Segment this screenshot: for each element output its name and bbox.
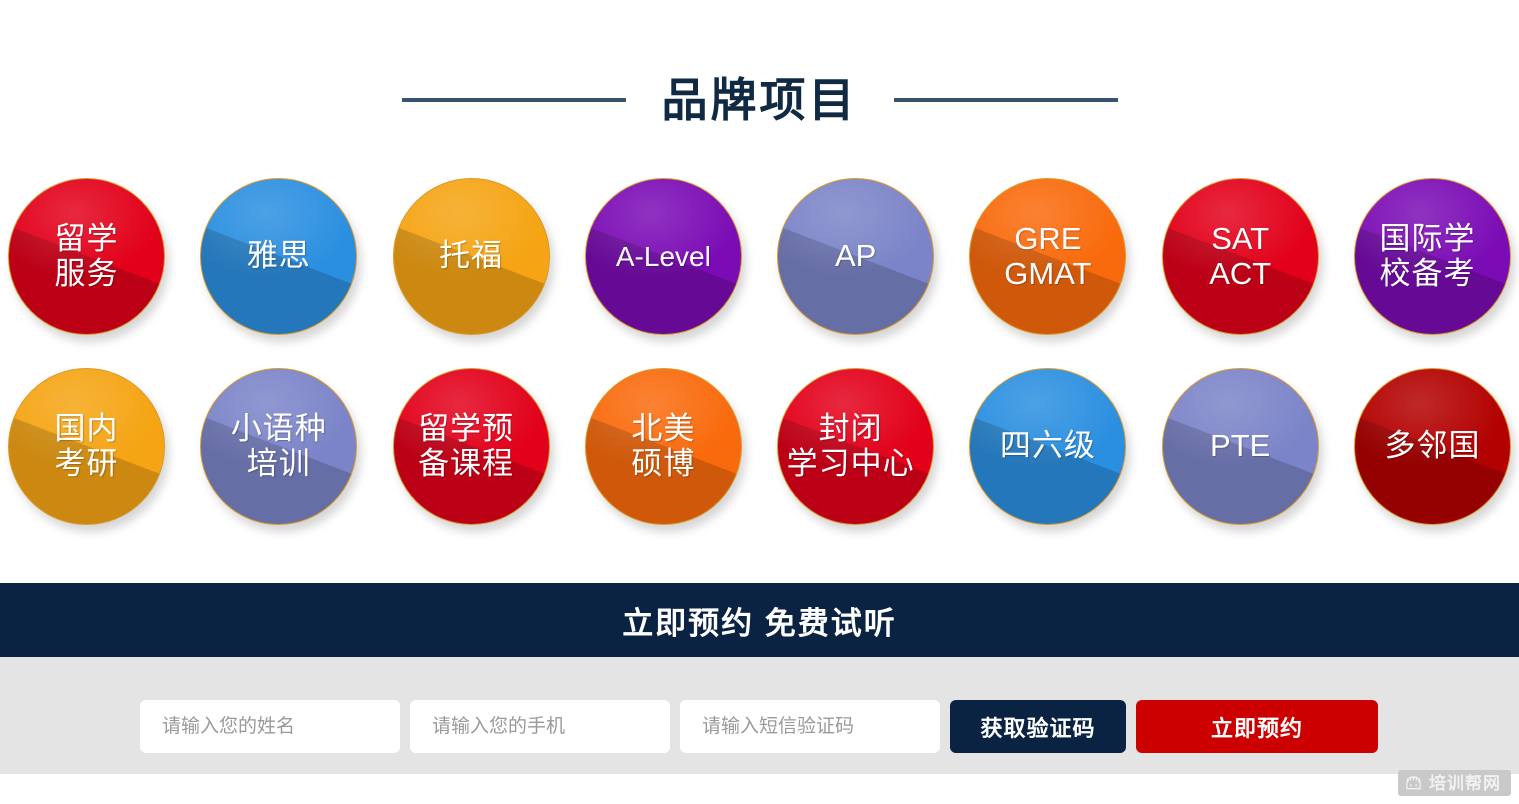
program-grid: 留学 服务雅思托福A-LevelAPGRE GMATSAT ACT国际学 校备考… [0,178,1519,558]
program-bubble[interactable]: 封闭 学习中心 [777,368,934,525]
program-bubble[interactable]: 北美 硕博 [585,368,742,525]
cta-banner-text: 立即预约 免费试听 [622,598,897,643]
sun-face-icon [1404,774,1423,793]
program-bubble-label: 北美 硕博 [629,412,697,481]
program-bubble-label: A-Level [614,241,713,272]
program-bubble[interactable]: 小语种 培训 [200,368,357,525]
program-bubble[interactable]: PTE [1162,368,1319,525]
program-bubble[interactable]: GRE GMAT [969,178,1126,335]
watermark-text: 培训帮网 [1429,775,1501,792]
phone-input[interactable] [410,700,670,753]
program-bubble[interactable]: 托福 [393,178,550,335]
program-bubble[interactable]: SAT ACT [1162,178,1319,335]
program-bubble-label: 雅思 [245,239,313,274]
title-rule-left [402,98,626,102]
submit-booking-button[interactable]: 立即预约 [1136,700,1378,753]
program-bubble-label: 四六级 [998,429,1098,464]
program-bubble[interactable]: 雅思 [200,178,357,335]
booking-form-strip: 获取验证码 立即预约 [0,657,1519,774]
title-rule-right [894,98,1118,102]
site-watermark: 培训帮网 [1398,770,1511,796]
sms-code-input[interactable] [680,700,940,753]
program-bubble[interactable]: 四六级 [969,368,1126,525]
name-input[interactable] [140,700,400,753]
program-bubble[interactable]: 留学预 备课程 [393,368,550,525]
program-row-2: 国内 考研小语种 培训留学预 备课程北美 硕博封闭 学习中心四六级PTE多邻国 [0,368,1519,538]
cta-banner: 立即预约 免费试听 [0,583,1519,657]
page-title-block: 品牌项目 [0,62,1519,138]
program-row-1: 留学 服务雅思托福A-LevelAPGRE GMATSAT ACT国际学 校备考 [0,178,1519,348]
program-bubble-label: 多邻国 [1382,429,1482,464]
program-bubble-label: 留学 服务 [53,222,121,291]
program-bubble[interactable]: 留学 服务 [8,178,165,335]
program-bubble-label: GRE GMAT [1002,222,1093,291]
program-bubble[interactable]: 多邻国 [1354,368,1511,525]
program-bubble-label: 小语种 培训 [229,412,329,481]
program-bubble-label: PTE [1208,429,1272,464]
program-bubble[interactable]: 国际学 校备考 [1354,178,1511,335]
program-bubble-label: 国际学 校备考 [1345,222,1510,291]
program-bubble[interactable]: AP [777,178,934,335]
program-bubble[interactable]: 国内 考研 [8,368,165,525]
program-bubble-label: AP [833,239,878,274]
program-bubble-label: SAT ACT [1207,222,1273,291]
program-bubble-label: 托福 [437,239,505,274]
booking-form: 获取验证码 立即预约 [140,700,1378,753]
program-bubble-label: 国内 考研 [53,412,121,481]
program-bubble-label: 封闭 学习中心 [768,412,933,481]
program-bubble-label: 留学预 备课程 [384,412,549,481]
get-sms-code-button[interactable]: 获取验证码 [950,700,1126,753]
program-bubble[interactable]: A-Level [585,178,742,335]
page-title: 品牌项目 [662,77,858,123]
